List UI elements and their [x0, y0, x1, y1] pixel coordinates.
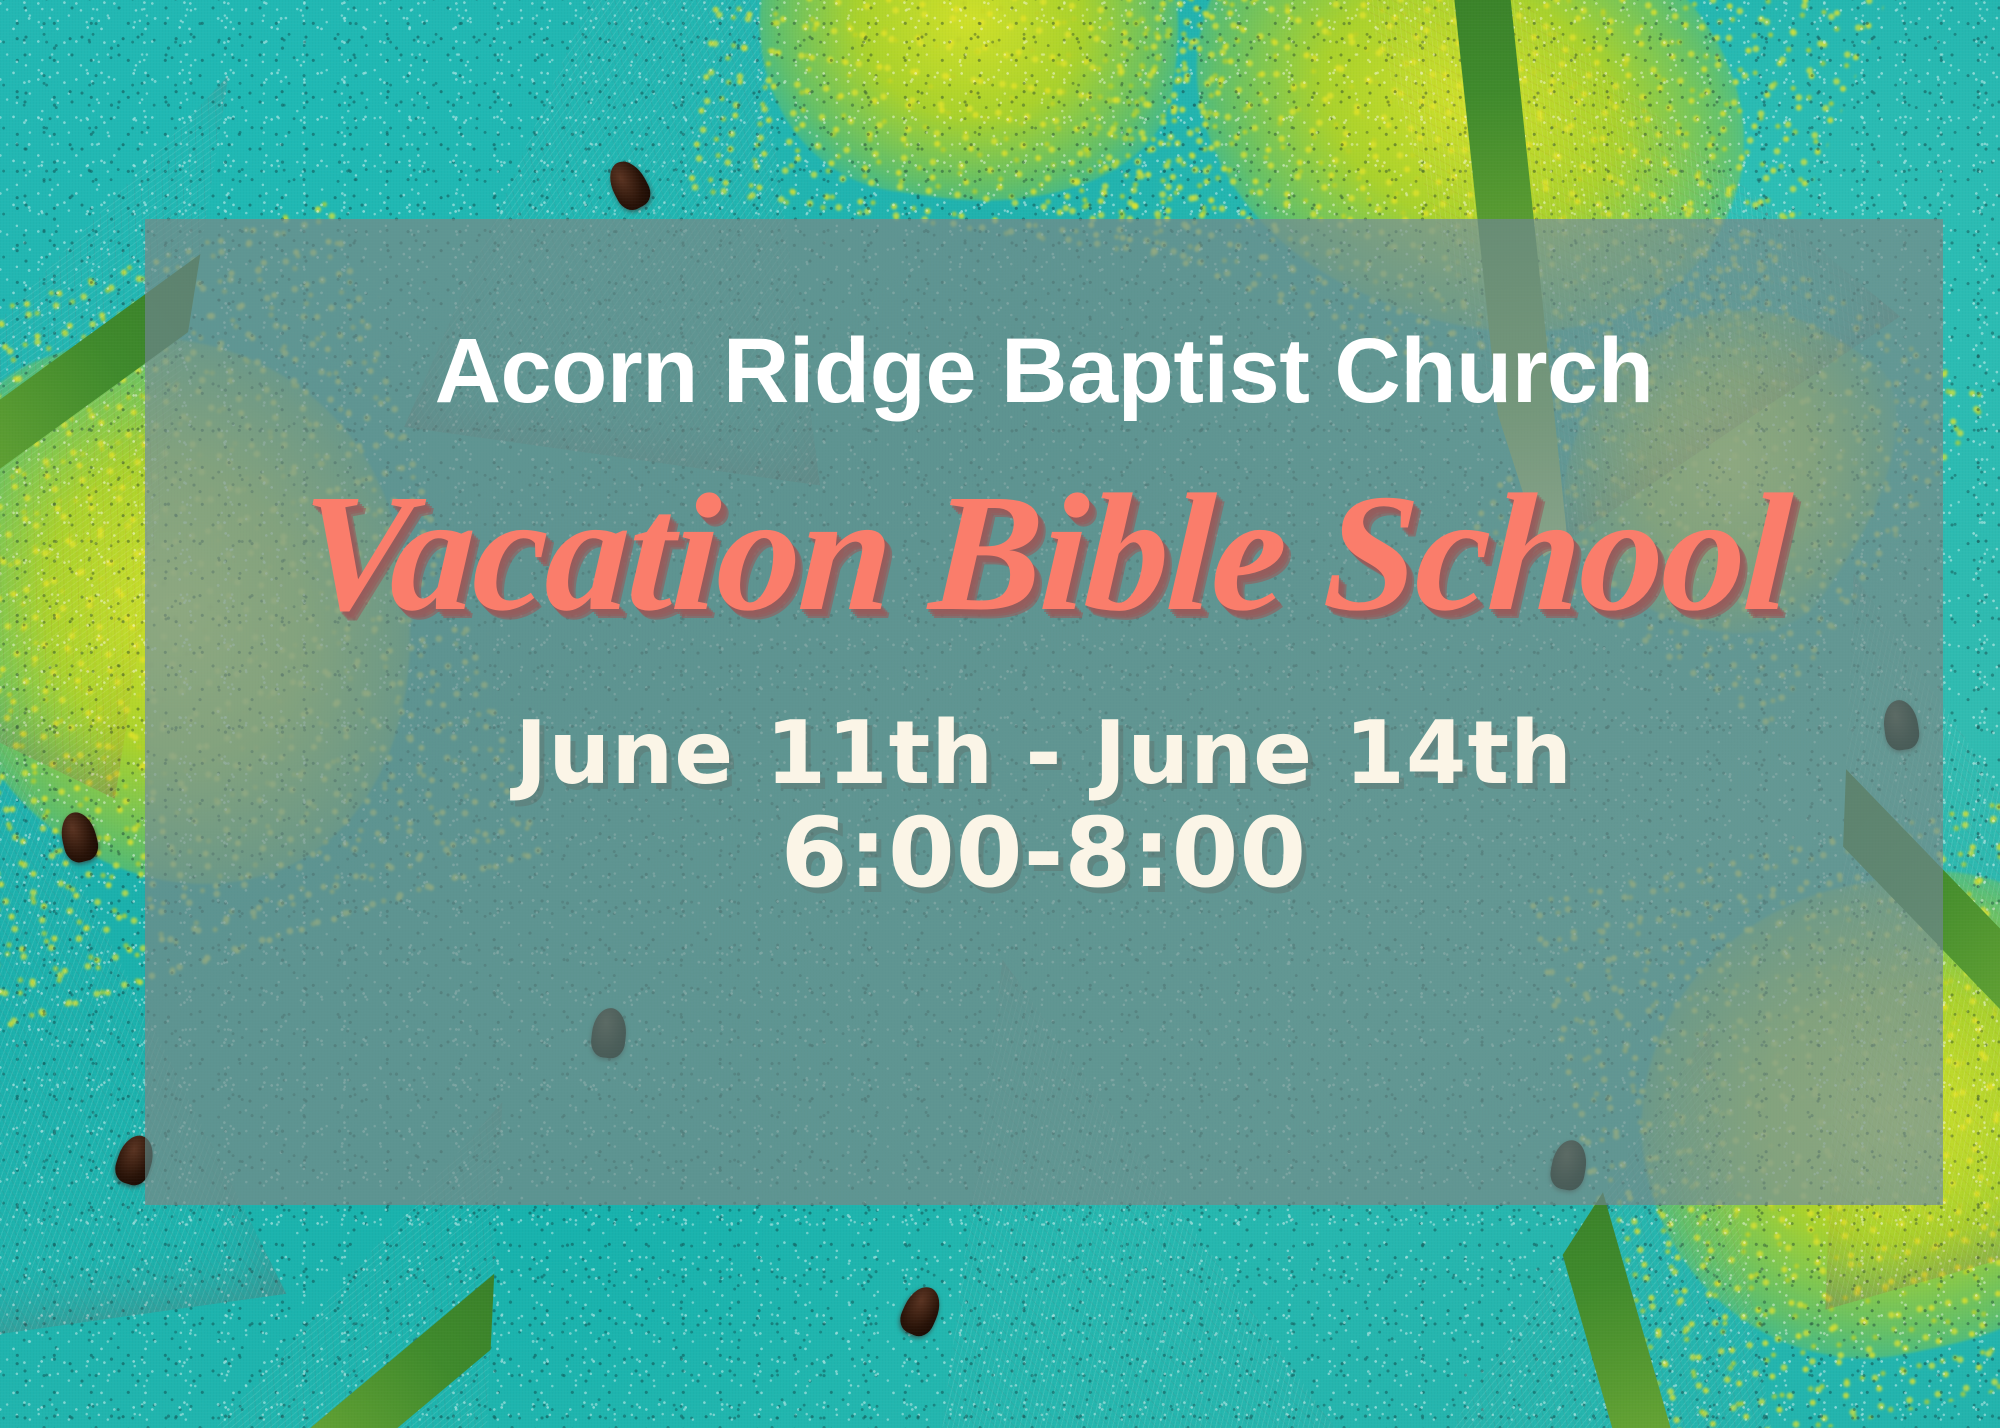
vbs-flyer-poster: Acorn Ridge Baptist Church Vacation Bibl… — [0, 0, 2000, 1428]
translucent-overlay-panel — [145, 219, 1943, 1205]
